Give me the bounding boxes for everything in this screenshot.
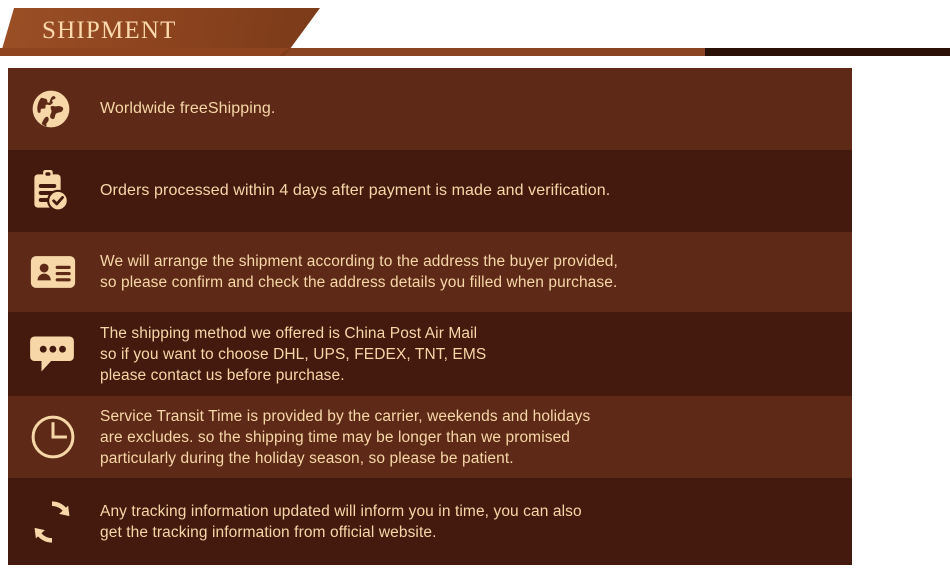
info-row: Orders processed within 4 days after pay… — [8, 150, 852, 232]
info-row: Worldwide freeShipping. — [8, 68, 852, 150]
info-row-text: Service Transit Time is provided by the … — [88, 406, 590, 469]
clock-icon — [30, 414, 88, 460]
globe-icon — [30, 88, 88, 130]
info-row: Service Transit Time is provided by the … — [8, 396, 852, 478]
info-row-text: We will arrange the shipment according t… — [88, 251, 618, 293]
info-row-text: Worldwide freeShipping. — [88, 98, 275, 120]
header-rail-dark — [700, 48, 950, 56]
refresh-arrows-icon — [30, 498, 88, 546]
shipment-info-panel: Worldwide freeShipping. Orders processed… — [8, 68, 852, 565]
speech-bubble-icon — [30, 333, 88, 375]
info-row: The shipping method we offered is China … — [8, 312, 852, 396]
id-card-icon — [30, 255, 88, 289]
info-row: Any tracking information updated will in… — [8, 478, 852, 565]
header-rail-mid — [280, 48, 705, 56]
info-row-text: The shipping method we offered is China … — [88, 323, 486, 386]
info-row-text: Any tracking information updated will in… — [88, 501, 582, 543]
header-banner-foot — [0, 48, 290, 56]
clipboard-check-icon — [30, 168, 88, 214]
info-row-text: Orders processed within 4 days after pay… — [88, 180, 610, 202]
info-row: We will arrange the shipment according t… — [8, 232, 852, 312]
shipment-header: SHIPMENT — [0, 0, 950, 68]
page-title: SHIPMENT — [42, 14, 177, 48]
